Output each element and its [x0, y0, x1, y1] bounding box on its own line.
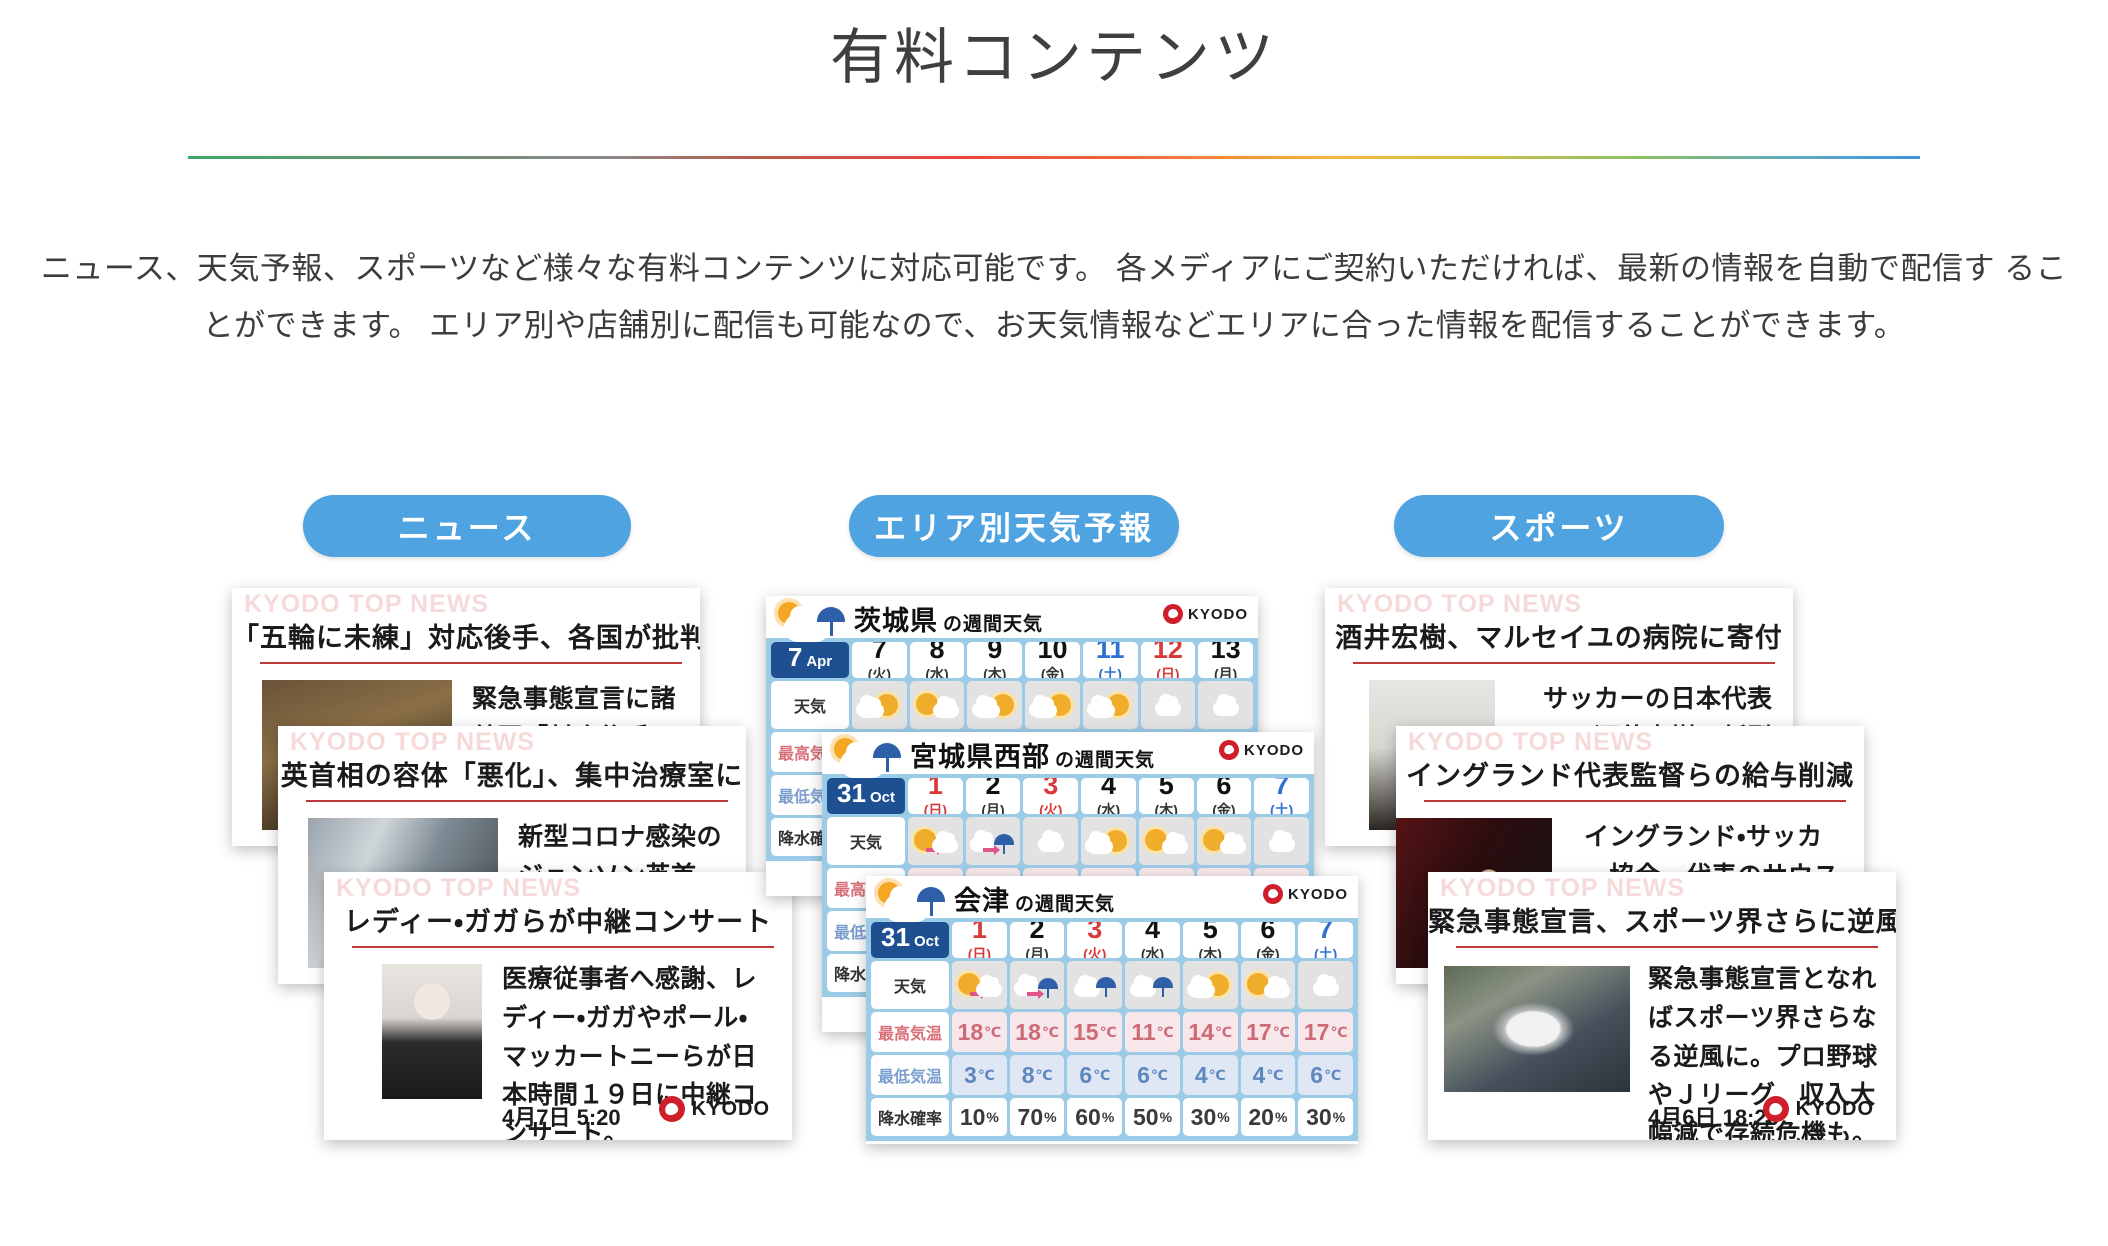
day-number: 7 — [1274, 778, 1289, 799]
weather-high-temp: 17℃ — [1241, 1012, 1296, 1052]
news-headline: 酒井宏樹、マルセイユの病院に寄付 — [1325, 616, 1793, 655]
weather-icon-cell — [1197, 817, 1252, 865]
day-of-week: (火) — [1039, 800, 1062, 814]
unit: % — [1102, 1109, 1114, 1125]
weather-row-label: 最高気温 — [871, 1012, 949, 1052]
news-headline: 英首相の容体「悪化」、集中治療室に — [278, 754, 746, 793]
weather-icon-cell — [1125, 961, 1180, 1009]
weather-low-temp: 4℃ — [1241, 1055, 1296, 1095]
weather-low-temp: 6℃ — [1067, 1055, 1122, 1095]
weather-area-name: 会津 — [954, 886, 1010, 916]
kyodo-wordmark: KYODO — [1244, 742, 1304, 759]
weather-title-bar: 宮城県西部の週間天気KYODO — [822, 732, 1314, 774]
sunny-cloud-icon — [1201, 826, 1247, 856]
weather-row-label-text: 天気 — [794, 693, 826, 717]
value: 17 — [1304, 1019, 1330, 1046]
kyodo-logo: KYODO — [1219, 740, 1304, 760]
weather-day-header: 12(日) — [1141, 642, 1196, 678]
value: 8 — [1022, 1062, 1035, 1089]
weather-icon-cell — [852, 681, 907, 729]
weather-low-temp: 6℃ — [1298, 1055, 1353, 1095]
weather-title-suffix: の週間天気 — [943, 614, 1043, 635]
weather-day-header: 11(土) — [1083, 642, 1138, 678]
weather-day-header: 4(水) — [1125, 922, 1180, 958]
day-of-week: (水) — [925, 664, 948, 678]
day-number: 4 — [1101, 778, 1116, 799]
kyodo-top-news-brand: KYODO TOP NEWS — [336, 874, 581, 903]
kyodo-logo: KYODO — [1763, 1096, 1874, 1122]
cloud-rain-icon — [1129, 970, 1175, 1000]
weather-high-temp: 14℃ — [1183, 1012, 1238, 1052]
day-number: 11 — [1096, 642, 1125, 663]
unit: % — [1333, 1109, 1345, 1125]
unit: ℃ — [1042, 1024, 1059, 1041]
sun-then-cloud-icon — [956, 970, 1002, 1000]
cloudy-sun-icon — [856, 690, 902, 720]
weather-high-temp: 18℃ — [1010, 1012, 1065, 1052]
day-of-week: (土) — [1099, 664, 1122, 678]
value: 6 — [1137, 1062, 1150, 1089]
day-of-week: (火) — [1083, 944, 1106, 958]
news-headline: 「五輪に未練」対応後手、各国が批判 — [232, 616, 700, 655]
weather-precip-prob: 30% — [1298, 1098, 1353, 1136]
news-thumbnail — [382, 964, 482, 1099]
sun-then-cloud-icon — [912, 826, 958, 856]
weather-row-label-text: 最高気温 — [878, 1020, 942, 1044]
day-number: 8 — [930, 642, 945, 663]
weather-icon-cell — [967, 681, 1022, 729]
news-card-3[interactable]: KYODO TOP NEWS レディー・ガガらが中継コンサート 医療従事者へ感謝… — [324, 872, 792, 1140]
kyodo-wordmark: KYODO — [692, 1098, 770, 1121]
day-of-week: (日) — [1156, 664, 1179, 678]
weather-icon-cell — [1081, 817, 1136, 865]
weather-row-label: 天気 — [771, 681, 849, 729]
cloudy-sun-icon — [1085, 826, 1131, 856]
weather-icon-cell — [1241, 961, 1296, 1009]
weather-precip-prob: 60% — [1067, 1098, 1122, 1136]
weather-icon-cell — [1198, 681, 1253, 729]
headline-rule — [306, 800, 728, 802]
unit: ℃ — [1324, 1067, 1341, 1084]
day-of-week: (木) — [1199, 944, 1222, 958]
sunny-cloud-icon — [1143, 826, 1189, 856]
day-number: 2 — [1030, 922, 1045, 943]
weather-day-header: 8(水) — [910, 642, 965, 678]
value: 14 — [1188, 1019, 1214, 1046]
weather-row-label-text: 降水確率 — [878, 1105, 942, 1129]
sun-cloud-umbrella-icon — [830, 734, 904, 780]
weather-title-suffix: の週間天気 — [1015, 894, 1115, 915]
weather-icon-cell — [910, 681, 965, 729]
unit: ℃ — [1215, 1024, 1232, 1041]
rain-icon — [1072, 970, 1118, 1000]
day-number: 7 — [1318, 922, 1333, 943]
value: 70 — [1018, 1104, 1044, 1131]
weather-card-aizu[interactable]: 会津の週間天気KYODO31Oct1(日)2(月)3(火)4(水)5(木)6(金… — [866, 876, 1358, 1144]
day-number: 3 — [1087, 922, 1102, 943]
day-of-week: (火) — [868, 664, 891, 678]
unit: % — [1044, 1109, 1056, 1125]
day-of-week: (金) — [1041, 664, 1064, 678]
weather-day-header: 1(日) — [952, 922, 1007, 958]
value: 20 — [1248, 1104, 1274, 1131]
kyodo-mark-icon — [1263, 884, 1283, 904]
value: 3 — [964, 1062, 977, 1089]
weather-icon-cell — [1023, 817, 1078, 865]
value: 4 — [1253, 1062, 1266, 1089]
date-chip-month: Oct — [870, 789, 895, 806]
headline-rule — [1424, 800, 1846, 802]
cloudy-icon — [1145, 690, 1191, 720]
weather-icon-cell — [1183, 961, 1238, 1009]
weather-icon-cell — [966, 817, 1021, 865]
unit: % — [1160, 1109, 1172, 1125]
weather-row-label-text: 最低気温 — [878, 1063, 942, 1087]
weather-day-header: 7(土) — [1298, 922, 1353, 958]
day-number: 9 — [987, 642, 1002, 663]
weather-day-header: 5(木) — [1139, 778, 1194, 814]
value: 11 — [1131, 1019, 1155, 1046]
unit: ℃ — [978, 1067, 995, 1084]
news-thumbnail — [1444, 966, 1630, 1092]
weather-day-header: 3(火) — [1023, 778, 1078, 814]
weather-low-temp: 6℃ — [1125, 1055, 1180, 1095]
cloudy-icon — [1303, 970, 1349, 1000]
weather-icon-cell — [1010, 961, 1065, 1009]
weather-day-header: 1(日) — [908, 778, 963, 814]
news-timestamp: 4月6日 18:26 — [1648, 1100, 1779, 1132]
day-number: 1 — [972, 922, 987, 943]
day-number: 1 — [928, 778, 943, 799]
lead-paragraph: ニュース、天気予報、スポーツなど様々な有料コンテンツに対応可能です。 各メディア… — [40, 240, 2068, 355]
headline-rule — [352, 946, 774, 948]
weather-day-header: 10(金) — [1025, 642, 1080, 678]
day-number: 4 — [1145, 922, 1160, 943]
weather-icon-cell — [1083, 681, 1138, 729]
kyodo-top-news-brand: KYODO TOP NEWS — [244, 590, 489, 619]
unit: ℃ — [1157, 1024, 1174, 1041]
weather-day-header: 13(月) — [1198, 642, 1253, 678]
weather-day-header: 9(木) — [967, 642, 1022, 678]
weather-precip-prob: 20% — [1241, 1098, 1296, 1136]
cloudy-icon — [1259, 826, 1305, 856]
category-pill-news[interactable]: ニュース — [303, 495, 631, 557]
unit: % — [986, 1109, 998, 1125]
value: 18 — [1015, 1019, 1041, 1046]
unit: ℃ — [1209, 1067, 1226, 1084]
weather-date-chip: 31Oct — [827, 778, 905, 814]
kyodo-logo: KYODO — [659, 1096, 770, 1122]
news-headline: レディー・ガガらが中継コンサート — [324, 900, 792, 939]
unit: % — [1217, 1109, 1229, 1125]
weather-title-suffix: の週間天気 — [1055, 750, 1155, 771]
weather-precip-prob: 10% — [952, 1098, 1007, 1136]
weather-low-temp: 4℃ — [1183, 1055, 1238, 1095]
weather-icon-cell — [952, 961, 1007, 1009]
day-of-week: (木) — [983, 664, 1006, 678]
kyodo-mark-icon — [1163, 604, 1183, 624]
kyodo-logo: KYODO — [1163, 604, 1248, 624]
headline-rule — [1353, 662, 1775, 664]
weather-day-header: 6(金) — [1241, 922, 1296, 958]
gradient-divider — [188, 156, 1920, 159]
day-number: 10 — [1037, 642, 1067, 663]
cloudy-icon — [1028, 826, 1074, 856]
kyodo-top-news-brand: KYODO TOP NEWS — [290, 728, 535, 757]
weather-icon-cell — [1067, 961, 1122, 1009]
day-of-week: (金) — [1256, 944, 1279, 958]
day-number: 5 — [1203, 922, 1218, 943]
day-number: 6 — [1260, 922, 1275, 943]
kyodo-top-news-brand: KYODO TOP NEWS — [1440, 874, 1685, 903]
kyodo-top-news-brand: KYODO TOP NEWS — [1337, 590, 1582, 619]
day-of-week: (水) — [1097, 800, 1120, 814]
weather-day-header: 6(金) — [1197, 778, 1252, 814]
page-title: 有料コンテンツ — [0, 22, 2108, 94]
weather-precip-prob: 30% — [1183, 1098, 1238, 1136]
weather-area-title: 宮城県西部の週間天気 — [910, 735, 1155, 774]
value: 30 — [1191, 1104, 1217, 1131]
unit: ℃ — [1093, 1067, 1110, 1084]
value: 60 — [1075, 1104, 1101, 1131]
sun-cloud-umbrella-icon — [874, 878, 948, 924]
weather-day-header: 4(水) — [1081, 778, 1136, 814]
value: 6 — [1079, 1062, 1092, 1089]
day-number: 6 — [1216, 778, 1231, 799]
weather-day-header: 2(月) — [1010, 922, 1065, 958]
weather-area-name: 茨城県 — [854, 606, 938, 636]
unit: ℃ — [1330, 1024, 1347, 1041]
weather-high-temp: 11℃ — [1125, 1012, 1180, 1052]
weather-icon-cell — [1298, 961, 1353, 1009]
weather-icon-cell — [1141, 681, 1196, 729]
value: 50 — [1133, 1104, 1159, 1131]
weather-row-label-text: 天気 — [894, 973, 926, 997]
cloudy-sun-icon — [972, 690, 1018, 720]
day-of-week: (月) — [1214, 664, 1237, 678]
date-chip-day: 7 — [788, 642, 802, 673]
unit: ℃ — [1266, 1067, 1283, 1084]
weather-low-temp: 3℃ — [952, 1055, 1007, 1095]
weather-row-label: 最低気温 — [871, 1055, 949, 1095]
weather-date-chip: 31Oct — [871, 922, 949, 958]
value: 4 — [1195, 1062, 1208, 1089]
day-number: 5 — [1159, 778, 1174, 799]
weather-high-temp: 17℃ — [1298, 1012, 1353, 1052]
day-of-week: (日) — [968, 944, 991, 958]
day-number: 13 — [1211, 642, 1241, 663]
unit: % — [1275, 1109, 1287, 1125]
day-of-week: (日) — [924, 800, 947, 814]
unit: ℃ — [1035, 1067, 1052, 1084]
lead-line-1: ニュース、天気予報、スポーツなど様々な有料コンテンツに対応可能です。 各メディア… — [41, 251, 1995, 286]
headline-rule — [1456, 946, 1878, 948]
day-number: 12 — [1153, 642, 1183, 663]
value: 6 — [1310, 1062, 1323, 1089]
weather-date-chip: 7Apr — [771, 642, 849, 678]
date-chip-month: Apr — [806, 653, 832, 670]
weather-title-bar: 茨城県の週間天気KYODO — [766, 596, 1258, 638]
weather-icon-cell — [1139, 817, 1194, 865]
sunny-cloud-icon — [1245, 970, 1291, 1000]
kyodo-logo: KYODO — [1263, 884, 1348, 904]
kyodo-wordmark: KYODO — [1796, 1098, 1874, 1121]
weather-row-label: 降水確率 — [871, 1098, 949, 1136]
day-of-week: (月) — [981, 800, 1004, 814]
category-pill-weather[interactable]: エリア別天気予報 — [849, 495, 1179, 557]
value: 10 — [960, 1104, 986, 1131]
date-chip-month: Oct — [914, 933, 939, 950]
unit: ℃ — [1273, 1024, 1290, 1041]
unit: ℃ — [1100, 1024, 1117, 1041]
weather-day-header: 2(月) — [966, 778, 1021, 814]
news-headline: 緊急事態宣言、スポーツ界さらに逆風 — [1428, 900, 1896, 939]
day-number: 2 — [986, 778, 1001, 799]
kyodo-mark-icon — [1763, 1096, 1789, 1122]
weather-icon-cell — [1254, 817, 1309, 865]
weather-day-header: 3(火) — [1067, 922, 1122, 958]
weather-row-label: 天気 — [871, 961, 949, 1009]
date-chip-day: 31 — [881, 922, 910, 953]
cloudy-sun-icon — [1087, 690, 1133, 720]
weather-low-temp: 8℃ — [1010, 1055, 1065, 1095]
cloud-then-rain-icon — [1014, 970, 1060, 1000]
weather-area-title: 会津の週間天気 — [954, 879, 1115, 918]
weather-precip-prob: 70% — [1010, 1098, 1065, 1136]
sunny-cloud-icon — [914, 690, 960, 720]
weather-day-header: 7(火) — [852, 642, 907, 678]
weather-precip-prob: 50% — [1125, 1098, 1180, 1136]
weather-row-label: 天気 — [827, 817, 905, 865]
cloudy-sun-icon — [1029, 690, 1075, 720]
cloudy-icon — [1203, 690, 1249, 720]
day-number: 3 — [1043, 778, 1058, 799]
day-of-week: (土) — [1270, 800, 1293, 814]
day-of-week: (木) — [1155, 800, 1178, 814]
cloud-then-rain-icon — [970, 826, 1016, 856]
weather-area-name: 宮城県西部 — [910, 742, 1050, 772]
value: 18 — [958, 1019, 984, 1046]
weather-high-temp: 18℃ — [952, 1012, 1007, 1052]
value: 15 — [1073, 1019, 1099, 1046]
day-of-week: (水) — [1141, 944, 1164, 958]
weather-icon-cell — [1025, 681, 1080, 729]
weather-day-header: 5(木) — [1183, 922, 1238, 958]
kyodo-mark-icon — [1219, 740, 1239, 760]
weather-high-temp: 15℃ — [1067, 1012, 1122, 1052]
unit: ℃ — [1151, 1067, 1168, 1084]
kyodo-wordmark: KYODO — [1188, 606, 1248, 623]
day-of-week: (月) — [1025, 944, 1048, 958]
weather-grid: 31Oct1(日)2(月)3(火)4(水)5(木)6(金)7(土)天気最高気温1… — [866, 918, 1358, 1141]
weather-title-bar: 会津の週間天気KYODO — [866, 876, 1358, 918]
cloudy-sun-icon — [1187, 970, 1233, 1000]
weather-day-header: 7(土) — [1254, 778, 1309, 814]
category-pill-sports[interactable]: スポーツ — [1394, 495, 1724, 557]
day-of-week: (土) — [1314, 944, 1337, 958]
day-of-week: (金) — [1212, 800, 1235, 814]
day-number: 7 — [872, 642, 887, 663]
kyodo-wordmark: KYODO — [1288, 886, 1348, 903]
weather-area-title: 茨城県の週間天気 — [854, 599, 1043, 638]
kyodo-top-news-brand: KYODO TOP NEWS — [1408, 728, 1653, 757]
news-timestamp: 4月7日 5:20 — [502, 1100, 621, 1132]
kyodo-mark-icon — [659, 1096, 685, 1122]
weather-icon-cell — [908, 817, 963, 865]
value: 17 — [1246, 1019, 1272, 1046]
sun-cloud-umbrella-icon — [774, 598, 848, 644]
weather-row-label-text: 天気 — [850, 829, 882, 853]
value: 30 — [1306, 1104, 1332, 1131]
sports-card-3[interactable]: KYODO TOP NEWS 緊急事態宣言、スポーツ界さらに逆風 緊急事態宣言と… — [1428, 872, 1896, 1140]
news-headline: イングランド代表監督らの給与削減 — [1396, 754, 1864, 793]
unit: ℃ — [984, 1024, 1001, 1041]
date-chip-day: 31 — [837, 778, 866, 809]
headline-rule — [260, 662, 682, 664]
